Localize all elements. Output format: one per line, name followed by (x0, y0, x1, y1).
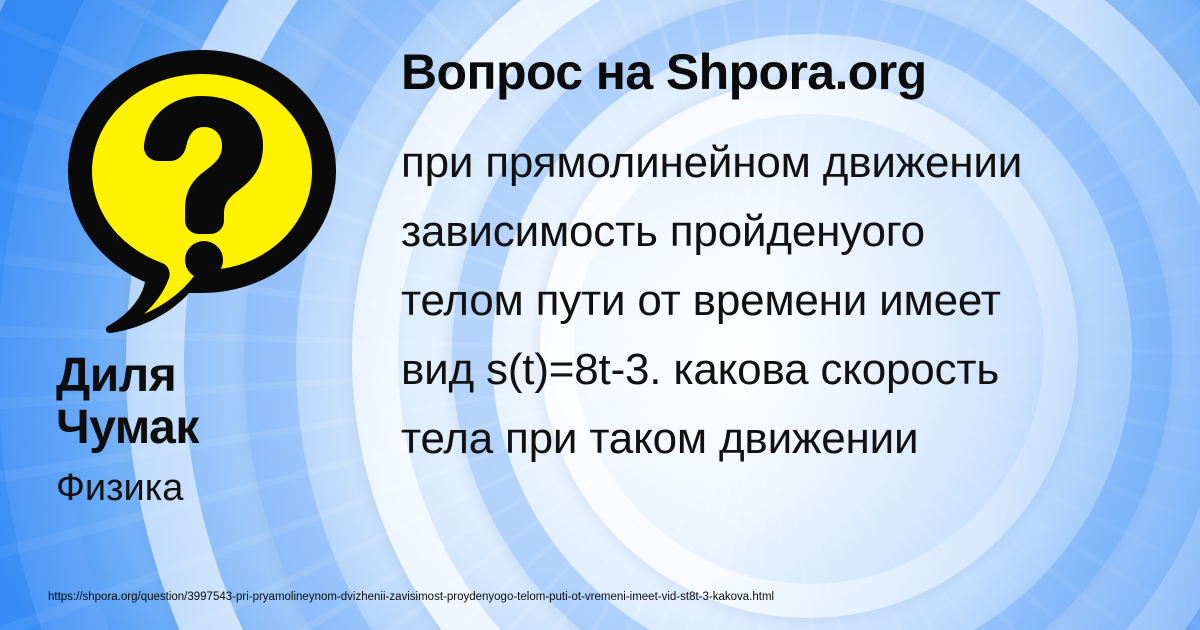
question-speech-bubble-icon (52, 34, 352, 334)
subject-label: Физика (56, 468, 382, 508)
question-panel: Вопрос на Shpora.org при прямолинейном д… (401, 44, 1171, 473)
page-title: Вопрос на Shpora.org (401, 44, 1171, 100)
question-text: при прямолинейном движении зависимость п… (401, 128, 1171, 473)
card-content: Диля Чумак Физика Вопрос на Shpora.org п… (0, 0, 1200, 630)
author-name: Диля Чумак (56, 350, 382, 454)
author-panel: Диля Чумак Физика (52, 34, 382, 508)
question-share-card: Диля Чумак Физика Вопрос на Shpora.org п… (0, 0, 1200, 630)
question-mark-dot (185, 241, 223, 279)
source-url-link[interactable]: https://shpora.org/question/3997543-pri-… (48, 590, 774, 604)
